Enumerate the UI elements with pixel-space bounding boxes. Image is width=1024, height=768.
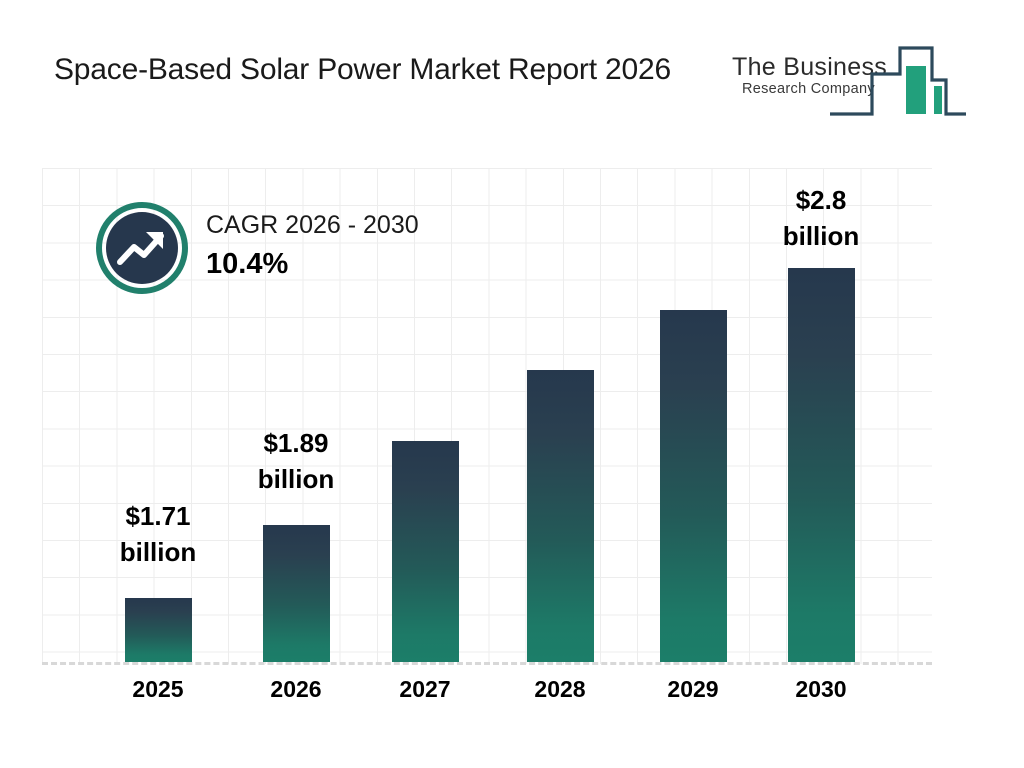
chart-baseline: [42, 662, 932, 665]
company-logo: The Business Research Company: [724, 38, 974, 128]
cagr-value: 10.4%: [206, 244, 496, 284]
page-header: Space-Based Solar Power Market Report 20…: [0, 0, 1024, 160]
cagr-annotation: CAGR 2026 - 2030 10.4%: [96, 202, 496, 302]
bar-chart-logo-mark-icon: [828, 40, 968, 124]
x-axis-tick-2029: 2029: [633, 676, 753, 703]
header-divider: [38, 158, 970, 163]
x-axis-tick-2027: 2027: [365, 676, 485, 703]
cagr-text-block: CAGR 2026 - 2030 10.4%: [206, 208, 496, 284]
x-axis-tick-2026: 2026: [236, 676, 356, 703]
cagr-period-label: CAGR 2026 - 2030: [206, 208, 496, 242]
x-axis-tick-2025: 2025: [98, 676, 218, 703]
trending-up-icon: [96, 202, 188, 294]
x-axis-tick-2030: 2030: [761, 676, 881, 703]
x-axis-tick-2028: 2028: [500, 676, 620, 703]
page-title: Space-Based Solar Power Market Report 20…: [54, 48, 714, 92]
chart-page: Space-Based Solar Power Market Report 20…: [0, 0, 1024, 768]
